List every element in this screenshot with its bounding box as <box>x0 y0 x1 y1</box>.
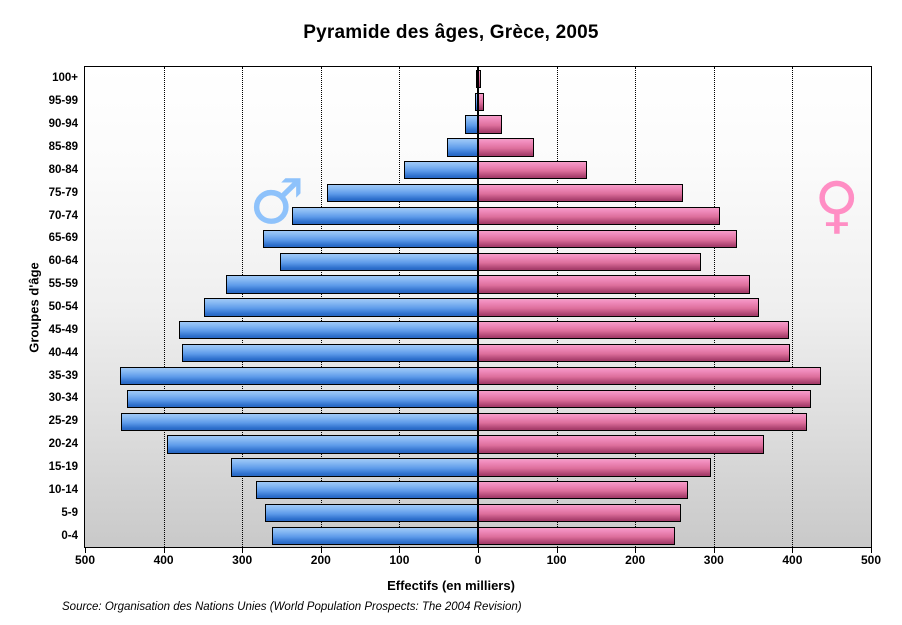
y-tick-label: 15-19 <box>22 461 78 473</box>
bar-row <box>85 481 871 499</box>
bar-female-55-59[interactable] <box>478 275 750 293</box>
bar-female-75-79[interactable] <box>478 184 683 202</box>
x-tick-label: 400 <box>762 553 822 567</box>
bar-female-60-64[interactable] <box>478 253 701 271</box>
bar-row <box>85 435 871 453</box>
y-tick-label: 100+ <box>22 72 78 84</box>
bar-row <box>85 253 871 271</box>
bar-female-85-89[interactable] <box>478 138 534 156</box>
bar-female-80-84[interactable] <box>478 161 587 179</box>
bar-male-30-34[interactable] <box>127 390 478 408</box>
male-symbol-icon: ♂ <box>249 171 305 233</box>
y-axis-tick-labels: 100+95-9990-9485-8980-8475-7970-7465-696… <box>20 66 78 548</box>
bar-female-0-4[interactable] <box>478 527 675 545</box>
bar-female-45-49[interactable] <box>478 321 789 339</box>
bar-female-100+[interactable] <box>478 70 481 88</box>
y-tick-label: 90-94 <box>22 118 78 130</box>
bar-female-40-44[interactable] <box>478 344 790 362</box>
bar-male-15-19[interactable] <box>231 458 478 476</box>
bars-layer <box>85 67 871 547</box>
bar-male-85-89[interactable] <box>447 138 478 156</box>
bar-female-35-39[interactable] <box>478 367 821 385</box>
bar-male-0-4[interactable] <box>272 527 478 545</box>
y-tick-label: 0-4 <box>22 530 78 542</box>
bar-male-25-29[interactable] <box>121 413 478 431</box>
bar-row <box>85 298 871 316</box>
y-tick-label: 65-69 <box>22 232 78 244</box>
bar-female-70-74[interactable] <box>478 207 720 225</box>
bar-male-35-39[interactable] <box>120 367 478 385</box>
x-tick-label: 500 <box>55 553 115 567</box>
y-tick-label: 95-99 <box>22 95 78 107</box>
bar-female-5-9[interactable] <box>478 504 681 522</box>
x-tick-label: 500 <box>841 553 901 567</box>
y-tick-label: 85-89 <box>22 141 78 153</box>
bar-male-70-74[interactable] <box>292 207 478 225</box>
bar-row <box>85 115 871 133</box>
y-tick-label: 60-64 <box>22 255 78 267</box>
y-tick-label: 35-39 <box>22 370 78 382</box>
bar-row <box>85 70 871 88</box>
bar-female-15-19[interactable] <box>478 458 711 476</box>
x-tick-label: 200 <box>291 553 351 567</box>
bar-male-80-84[interactable] <box>404 161 478 179</box>
bar-female-10-14[interactable] <box>478 481 688 499</box>
bar-row <box>85 138 871 156</box>
bar-female-30-34[interactable] <box>478 390 811 408</box>
y-tick-label: 55-59 <box>22 278 78 290</box>
plot-area: ♂ ♀ <box>84 66 872 548</box>
bar-row <box>85 184 871 202</box>
bar-male-5-9[interactable] <box>265 504 478 522</box>
y-tick-label: 5-9 <box>22 507 78 519</box>
x-tick-label: 200 <box>605 553 665 567</box>
bar-row <box>85 93 871 111</box>
bar-female-95-99[interactable] <box>478 93 484 111</box>
bar-female-20-24[interactable] <box>478 435 764 453</box>
x-tick-label: 300 <box>212 553 272 567</box>
bar-row <box>85 344 871 362</box>
bar-male-90-94[interactable] <box>465 115 478 133</box>
y-tick-label: 40-44 <box>22 347 78 359</box>
x-tick-label: 300 <box>684 553 744 567</box>
x-axis-tick-labels: 5004003002001000100200300400500 <box>84 553 872 571</box>
x-tick-label: 100 <box>527 553 587 567</box>
x-tick-label: 100 <box>369 553 429 567</box>
bar-row <box>85 390 871 408</box>
bar-row <box>85 458 871 476</box>
x-axis-title: Effectifs (en milliers) <box>0 578 902 593</box>
y-tick-label: 75-79 <box>22 187 78 199</box>
x-tick-label: 0 <box>448 553 508 567</box>
y-tick-label: 70-74 <box>22 210 78 222</box>
bar-row <box>85 321 871 339</box>
x-tick-label: 400 <box>134 553 194 567</box>
bar-male-20-24[interactable] <box>167 435 478 453</box>
bar-male-40-44[interactable] <box>182 344 478 362</box>
bar-male-75-79[interactable] <box>327 184 478 202</box>
bar-row <box>85 527 871 545</box>
bar-female-90-94[interactable] <box>478 115 502 133</box>
bar-female-65-69[interactable] <box>478 230 737 248</box>
bar-row <box>85 367 871 385</box>
bar-row <box>85 207 871 225</box>
bar-male-10-14[interactable] <box>256 481 478 499</box>
y-tick-label: 20-24 <box>22 438 78 450</box>
bar-female-50-54[interactable] <box>478 298 759 316</box>
y-tick-label: 10-14 <box>22 484 78 496</box>
bar-row <box>85 504 871 522</box>
y-tick-label: 45-49 <box>22 324 78 336</box>
y-tick-label: 30-34 <box>22 392 78 404</box>
bar-row <box>85 275 871 293</box>
y-tick-label: 50-54 <box>22 301 78 313</box>
bar-male-45-49[interactable] <box>179 321 478 339</box>
bar-male-55-59[interactable] <box>226 275 478 293</box>
y-tick-label: 80-84 <box>22 164 78 176</box>
bar-row <box>85 413 871 431</box>
female-symbol-icon: ♀ <box>814 174 859 236</box>
bar-female-25-29[interactable] <box>478 413 807 431</box>
population-pyramid-chart: Pyramide des âges, Grèce, 2005 Groupes d… <box>0 0 902 625</box>
bar-row <box>85 230 871 248</box>
bar-male-50-54[interactable] <box>204 298 478 316</box>
bar-male-60-64[interactable] <box>280 253 478 271</box>
source-note: Source: Organisation des Nations Unies (… <box>62 601 522 613</box>
bar-row <box>85 161 871 179</box>
y-tick-label: 25-29 <box>22 415 78 427</box>
page-title: Pyramide des âges, Grèce, 2005 <box>0 22 902 44</box>
